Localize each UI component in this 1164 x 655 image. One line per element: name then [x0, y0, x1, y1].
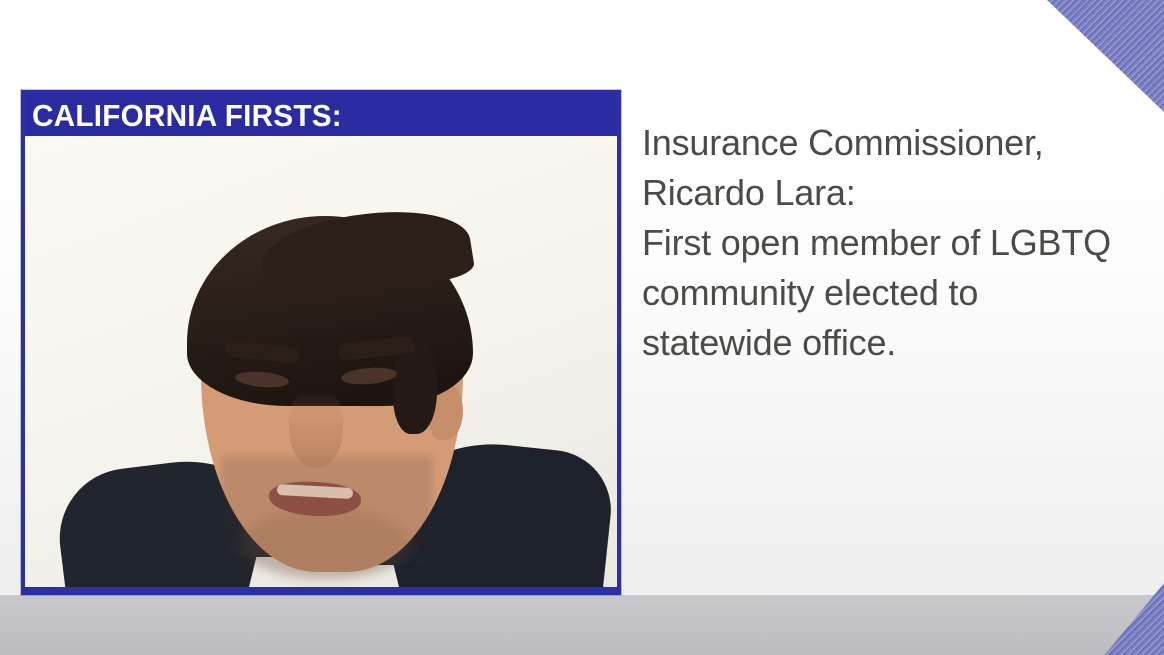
chin-shading [241, 508, 409, 580]
diagonal-stripes-top-right-icon [1014, 0, 1164, 112]
sideburn [393, 342, 437, 434]
bottom-gray-band [0, 595, 1164, 655]
caption-line: community elected to [642, 268, 1147, 318]
caption-line: First open member of LGBTQ [642, 218, 1147, 268]
card-header: CALIFORNIA FIRSTS: [25, 94, 617, 136]
slide-canvas: CALIFORNIA FIRSTS: Insura [0, 0, 1164, 655]
photo-card: CALIFORNIA FIRSTS: [21, 90, 621, 595]
caption-line: Ricardo Lara: [642, 168, 1147, 218]
caption-line: Insurance Commissioner, [642, 118, 1147, 168]
caption-line: statewide office. [642, 318, 1147, 368]
portrait-photo [25, 136, 617, 587]
caption-block: Insurance Commissioner, Ricardo Lara: Fi… [642, 118, 1147, 368]
nose [289, 390, 343, 468]
page-title: CALIFORNIA FIRSTS: [32, 100, 342, 131]
